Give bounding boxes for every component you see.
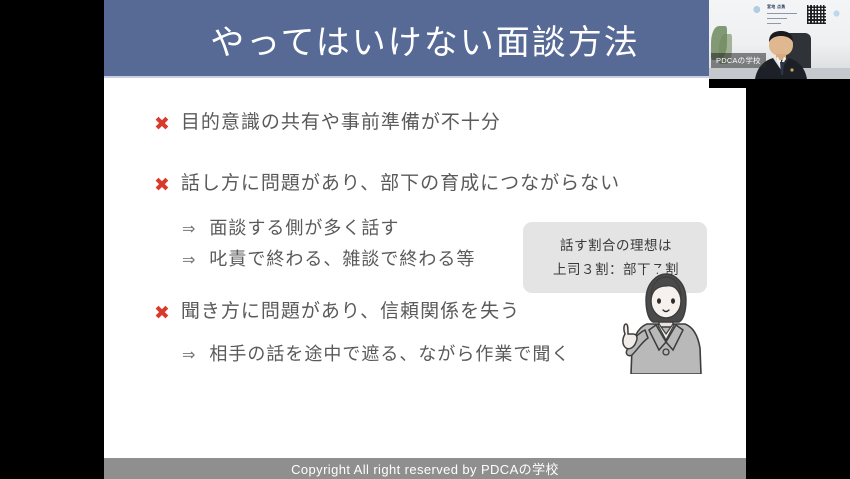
cross-icon: ✖ bbox=[154, 176, 170, 195]
sub-item-3-1: ⇒ 相手の話を途中で遮る、ながら作業で聞く bbox=[182, 340, 570, 366]
copyright-text: Copyright All right reserved by PDCAの学校 bbox=[291, 459, 559, 478]
pointing-woman-illustration bbox=[609, 272, 719, 374]
slide-title-banner: やってはいけない面談方法 bbox=[104, 0, 746, 78]
cross-icon: ✖ bbox=[154, 115, 170, 134]
sub-text-2-2: 叱責で終わる、雑談で終わる等 bbox=[209, 245, 475, 271]
callout-line-1: 話す割合の理想は bbox=[535, 234, 697, 258]
webcam-name-label: PDCAの学校 bbox=[711, 53, 766, 68]
double-arrow-icon: ⇒ bbox=[182, 219, 195, 238]
webcam-letterbox bbox=[709, 79, 850, 88]
page-title: やってはいけない面談方法 bbox=[104, 0, 746, 78]
sub-text-3-1: 相手の話を途中で遮る、ながら作業で聞く bbox=[209, 340, 570, 366]
double-arrow-icon: ⇒ bbox=[182, 345, 195, 364]
wall-text-line bbox=[767, 23, 781, 24]
qr-code-icon bbox=[807, 5, 826, 24]
wall-name-text: 宮地 点勇 bbox=[767, 4, 786, 10]
cross-icon: ✖ bbox=[154, 304, 170, 323]
slide-footer-bar: Copyright All right reserved by PDCAの学校 bbox=[104, 458, 746, 479]
bullet-text-3: 聞き方に問題があり、信頼関係を失う bbox=[181, 302, 520, 323]
video-player-stage: やってはいけない面談方法 ✖ 目的意識の共有や事前準備が不十分 ✖ 話し方に問題… bbox=[0, 0, 850, 479]
woman-illustration-svg bbox=[609, 272, 719, 374]
bullet-text-1: 目的意識の共有や事前準備が不十分 bbox=[181, 113, 501, 134]
wall-text-line bbox=[767, 13, 797, 14]
sub-item-2-2: ⇒ 叱責で終わる、雑談で終わる等 bbox=[182, 245, 475, 271]
webcam-background: 宮地 点勇 PDCAの学校 bbox=[709, 0, 850, 79]
presenter-webcam-feed[interactable]: 宮地 点勇 PDCAの学校 bbox=[709, 0, 850, 88]
double-arrow-icon: ⇒ bbox=[182, 250, 195, 269]
sub-text-2-1: 面談する側が多く話す bbox=[209, 214, 399, 240]
bullet-item-2: ✖ 話し方に問題があり、部下の育成につながらない bbox=[154, 174, 620, 195]
bullet-text-2: 話し方に問題があり、部下の育成につながらない bbox=[181, 174, 620, 195]
wall-text-line bbox=[767, 18, 787, 19]
bullet-item-3: ✖ 聞き方に問題があり、信頼関係を失う bbox=[154, 302, 520, 323]
bullet-item-1: ✖ 目的意識の共有や事前準備が不十分 bbox=[154, 113, 501, 134]
wall-logo-icon bbox=[752, 5, 764, 14]
wall-graphic-icon bbox=[830, 8, 843, 19]
sub-item-2-1: ⇒ 面談する側が多く話す bbox=[182, 214, 399, 240]
presentation-slide: やってはいけない面談方法 ✖ 目的意識の共有や事前準備が不十分 ✖ 話し方に問題… bbox=[104, 0, 746, 479]
